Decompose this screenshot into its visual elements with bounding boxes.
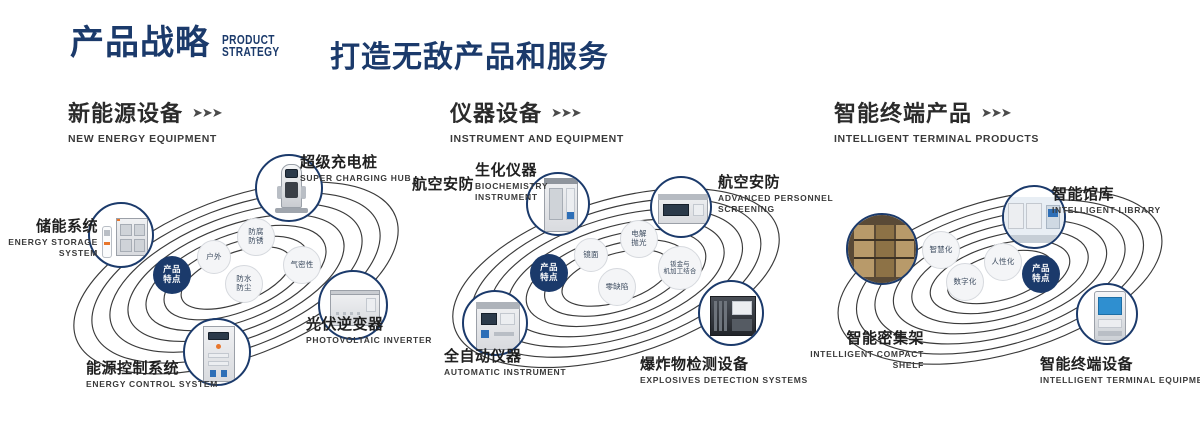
caption-cn: 智能终端设备	[1040, 356, 1200, 373]
caption-en: INTELLIGENT COMPACTSHELF	[782, 349, 924, 370]
caption-en: PHOTOVOLTAIC INVERTER	[306, 335, 432, 346]
caption-cn: 航空安防	[412, 176, 474, 193]
section-title-en: INSTRUMENT AND EQUIPMENT	[450, 133, 624, 145]
caption-cn: 全自动仪器	[444, 348, 566, 365]
caption-en: EXPLOSIVES DETECTION SYSTEMS	[640, 375, 808, 386]
caption-en: SUPER CHARGING HUB	[300, 173, 411, 184]
hub-product-features[interactable]: 产品 特点	[530, 254, 568, 292]
hub-line2: 特点	[540, 273, 558, 283]
node-screening-machine[interactable]	[650, 176, 712, 238]
feature-bubble: 人性化	[984, 243, 1022, 281]
feature-text: 钣金与	[670, 261, 690, 268]
node-compact-shelf[interactable]	[846, 213, 918, 285]
section-title-intelligent-terminal: 智能终端产品 ➤➤➤ INTELLIGENT TERMINAL PRODUCTS	[834, 96, 1039, 145]
caption-en: ENERGY STORAGESYSTEM	[0, 237, 98, 258]
section-title-new-energy: 新能源设备 ➤➤➤ NEW ENERGY EQUIPMENT	[68, 96, 222, 145]
slogan: 打造无敌产品和服务	[330, 32, 609, 76]
caption-energy-control-system: 能源控制系统 ENERGY CONTROL SYSTEM	[86, 360, 218, 390]
hub-product-features[interactable]: 产品 特点	[1022, 255, 1060, 293]
feature-text: 智慧化	[929, 246, 952, 255]
feature-bubble: 电解 抛光	[620, 220, 658, 258]
feature-text: 气密性	[290, 261, 313, 270]
feature-text: 数字化	[953, 278, 976, 287]
compact-shelf-icon	[848, 215, 916, 283]
page-title: 产品战略 PRODUCT STRATEGY	[70, 26, 296, 60]
feature-text: 抛光	[631, 239, 646, 248]
feature-text: 防尘	[236, 284, 251, 293]
feature-text: 户外	[206, 253, 221, 262]
chevron-right-icon: ➤➤➤	[981, 106, 1011, 119]
section-title-en: NEW ENERGY EQUIPMENT	[68, 133, 222, 145]
section-title-cn-text: 新能源设备	[68, 96, 183, 128]
caption-energy-storage-system: 储能系统 ENERGY STORAGESYSTEM	[0, 218, 98, 259]
feature-text: 零缺陷	[605, 283, 628, 292]
caption-intelligent-library: 智能馆库 INTELLIGENT LIBRARY	[1052, 186, 1161, 216]
caption-en: BIOCHEMISTRYINSTRUMENT	[475, 181, 548, 202]
caption-aviation-security-left: 航空安防	[412, 176, 474, 193]
caption-intelligent-terminal-equipment: 智能终端设备 INTELLIGENT TERMINAL EQUIPMENT	[1040, 356, 1200, 386]
feature-bubble: 智慧化	[922, 231, 960, 269]
caption-cn: 能源控制系统	[86, 360, 218, 377]
poster-stage: 产品战略 PRODUCT STRATEGY 打造无敌产品和服务 新能源设备 ➤➤…	[0, 0, 1200, 422]
title-en: PRODUCT STRATEGY	[222, 34, 280, 58]
feature-bubble: 零缺陷	[598, 268, 636, 306]
feature-text: 镜面	[583, 251, 598, 260]
feature-bubble: 防水 防尘	[225, 265, 263, 303]
hub-line2: 特点	[163, 275, 181, 285]
caption-en: INTELLIGENT TERMINAL EQUIPMENT	[1040, 375, 1200, 386]
chevron-right-icon: ➤➤➤	[551, 106, 581, 119]
explosives-detector-icon	[700, 282, 762, 344]
caption-cn: 智能密集架	[782, 330, 924, 347]
caption-cn: 生化仪器	[475, 162, 548, 179]
hub-line2: 特点	[1032, 274, 1050, 284]
section-title-cn: 仪器设备 ➤➤➤	[450, 96, 624, 128]
section-title-cn-text: 智能终端产品	[834, 96, 972, 128]
automatic-instrument-icon	[464, 292, 526, 354]
node-automatic-instrument[interactable]	[462, 290, 528, 356]
section-title-instrument: 仪器设备 ➤➤➤ INSTRUMENT AND EQUIPMENT	[450, 96, 624, 145]
hub-product-features[interactable]: 产品 特点	[153, 256, 191, 294]
chevron-right-icon: ➤➤➤	[192, 106, 222, 119]
section-title-cn-text: 仪器设备	[450, 96, 542, 128]
feature-text: 人性化	[991, 258, 1014, 267]
title-cn: 产品战略	[70, 26, 210, 60]
node-terminal-kiosk[interactable]	[1076, 283, 1138, 345]
feature-bubble: 镜面	[574, 238, 608, 272]
caption-cn: 超级充电桩	[300, 154, 411, 171]
caption-cn: 智能馆库	[1052, 186, 1161, 203]
title-en-line2: STRATEGY	[222, 46, 280, 58]
caption-automatic-instrument: 全自动仪器 AUTOMATIC INSTRUMENT	[444, 348, 566, 378]
section-title-cn: 新能源设备 ➤➤➤	[68, 96, 222, 128]
screening-machine-icon	[652, 178, 710, 236]
feature-bubble: 数字化	[946, 263, 984, 301]
feature-bubble: 户外	[197, 240, 231, 274]
section-title-cn: 智能终端产品 ➤➤➤	[834, 96, 1039, 128]
feature-bubble: 气密性	[283, 246, 321, 284]
caption-photovoltaic-inverter: 光伏逆变器 PHOTOVOLTAIC INVERTER	[306, 316, 432, 346]
section-title-en: INTELLIGENT TERMINAL PRODUCTS	[834, 133, 1039, 145]
caption-super-charging-hub: 超级充电桩 SUPER CHARGING HUB	[300, 154, 411, 184]
caption-biochemistry-instrument: 生化仪器 BIOCHEMISTRYINSTRUMENT	[475, 162, 548, 203]
feature-bubble: 防腐 防锈	[237, 218, 275, 256]
feature-text: 机加工结合	[664, 268, 697, 275]
terminal-kiosk-icon	[1078, 285, 1136, 343]
caption-intelligent-compact-shelf: 智能密集架 INTELLIGENT COMPACTSHELF	[782, 330, 924, 371]
node-explosives-detector[interactable]	[698, 280, 764, 346]
feature-bubble: 钣金与 机加工结合	[658, 246, 702, 290]
caption-en: ENERGY CONTROL SYSTEM	[86, 379, 218, 390]
caption-cn: 储能系统	[0, 218, 98, 235]
feature-text: 防锈	[248, 237, 263, 246]
caption-cn: 光伏逆变器	[306, 316, 432, 333]
energy-storage-cabinet-icon	[90, 204, 152, 266]
caption-en: INTELLIGENT LIBRARY	[1052, 205, 1161, 216]
caption-en: AUTOMATIC INSTRUMENT	[444, 367, 566, 378]
